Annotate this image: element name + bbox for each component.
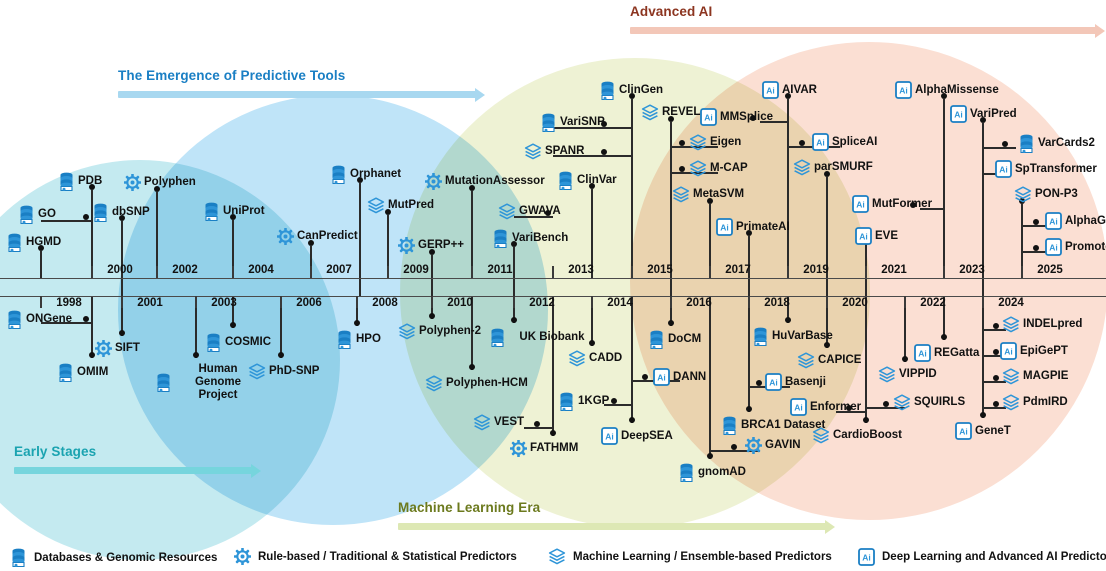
timeline-node[interactable]: SPANR [524, 143, 584, 160]
axis-tick [904, 296, 906, 308]
svg-text:Ai: Ai [794, 402, 803, 412]
axis-tick [387, 266, 389, 278]
axis-tick [40, 296, 42, 308]
database-icon [6, 233, 23, 252]
node-label: parSMURF [814, 161, 873, 174]
svg-text:Ai: Ai [720, 222, 729, 232]
node-label: COSMIC [225, 336, 271, 349]
connector-stem [40, 251, 42, 278]
axis-tick [631, 266, 633, 278]
year-label-2015: 2015 [647, 264, 673, 276]
layers-icon [473, 414, 491, 431]
timeline-node[interactable]: SQUIRLS [893, 394, 965, 411]
database-icon [92, 203, 109, 222]
connector-dot [756, 380, 762, 386]
node-label: ClinVar [577, 174, 617, 187]
legend-label: Deep Learning and Advanced AI Predictors [882, 551, 1106, 563]
era-title-advanced-ai: Advanced AI [630, 4, 712, 19]
node-label: OMIM [77, 366, 108, 379]
timeline-node[interactable]: INDELpred [1002, 316, 1082, 333]
connector-dot [83, 316, 89, 322]
year-label-2022: 2022 [920, 297, 946, 309]
timeline-node[interactable]: FATHMM [510, 440, 578, 457]
node-label: UniProt [223, 205, 265, 218]
ai-badge-icon: Ai [812, 133, 829, 151]
svg-text:Ai: Ai [1004, 346, 1013, 356]
database-icon [1018, 134, 1035, 153]
connector-stem [513, 247, 515, 296]
year-label-2008: 2008 [372, 297, 398, 309]
database-icon [6, 310, 23, 329]
timeline-node[interactable]: PdmIRD [1002, 394, 1068, 411]
node-label: VIPPID [899, 368, 937, 381]
connector-dot [679, 140, 685, 146]
year-label-2012: 2012 [529, 297, 555, 309]
timeline-node[interactable]: AiEVE [855, 227, 898, 245]
axis-tick [552, 266, 554, 278]
era-title-machine-learning-era: Machine Learning Era [398, 500, 540, 515]
ai-badge-icon: Ai [765, 373, 782, 391]
ai-badge-icon: Ai [653, 368, 670, 386]
database-icon [10, 548, 27, 567]
svg-text:Ai: Ai [954, 109, 963, 119]
node-label: Orphanet [350, 168, 401, 181]
svg-text:Ai: Ai [657, 372, 666, 382]
connector-dot [902, 356, 908, 362]
legend: Databases & Genomic ResourcesRule-based … [0, 546, 1106, 571]
node-label: DANN [673, 371, 706, 384]
timeline-node[interactable]: REVEL [641, 104, 700, 121]
ai-badge-icon: Ai [716, 218, 733, 236]
layers-icon [893, 394, 911, 411]
timeline-node[interactable]: OMIM [57, 363, 108, 382]
timeline-node[interactable]: AiAlphaMissense [895, 81, 999, 99]
database-icon [205, 333, 222, 352]
legend-item-ai-badge: AiDeep Learning and Advanced AI Predicto… [858, 548, 1106, 566]
connector-dot [354, 320, 360, 326]
timeline-node[interactable]: AiAlphaGe [1045, 212, 1106, 230]
timeline-node[interactable]: GERP++ [398, 237, 464, 254]
connector-dot [429, 313, 435, 319]
timeline-node[interactable]: AiDeepSEA [601, 427, 673, 445]
svg-text:Ai: Ai [918, 348, 927, 358]
year-label-2025: 2025 [1037, 264, 1063, 276]
node-label: SPANR [545, 145, 584, 158]
timeline-node[interactable]: UniProt [203, 202, 265, 221]
year-label-2001: 2001 [137, 297, 163, 309]
timeline-node[interactable]: PhD-SNP [248, 363, 319, 380]
svg-text:Ai: Ai [856, 199, 865, 209]
database-icon [58, 172, 75, 191]
timeline-node[interactable]: VEST [473, 414, 524, 431]
legend-label: Machine Learning / Ensemble-based Predic… [573, 551, 832, 563]
database-icon [540, 113, 557, 132]
connector-dot [511, 317, 517, 323]
ai-badge-icon: Ai [700, 108, 717, 126]
layers-icon [878, 366, 896, 383]
node-label: ONGene [26, 313, 72, 326]
axis-tick [591, 296, 593, 308]
ai-badge-icon: Ai [858, 548, 875, 566]
timeline-node[interactable]: HGMD [6, 233, 61, 252]
connector-dot [993, 401, 999, 407]
timeline-node[interactable]: VariSNP [540, 113, 605, 132]
axis-tick [91, 266, 93, 278]
era-arrow-advanced-ai [630, 27, 1096, 34]
database-icon [203, 202, 220, 221]
timeline-node[interactable]: AiDANN [653, 368, 706, 386]
timeline-node[interactable]: VIPPID [878, 366, 937, 383]
connector-stem [943, 99, 945, 278]
connector-dot [746, 406, 752, 412]
node-label: CAPICE [818, 354, 861, 367]
timeline-node[interactable]: Eigen [689, 134, 741, 151]
infographic-canvas: 2000200220042007200920112013201520172019… [0, 0, 1106, 571]
svg-text:Ai: Ai [859, 231, 868, 241]
ai-badge-icon: Ai [995, 160, 1012, 178]
svg-text:Ai: Ai [816, 137, 825, 147]
database-icon [557, 171, 574, 190]
node-label: REGatta [934, 347, 979, 360]
legend-item-gear: Rule-based / Traditional & Statistical P… [234, 548, 517, 565]
database-icon [492, 229, 509, 248]
timeline-node[interactable]: GO [18, 205, 56, 224]
year-label-2013: 2013 [568, 264, 594, 276]
node-label: MetaSVM [693, 188, 744, 201]
year-label-2019: 2019 [803, 264, 829, 276]
timeline-node[interactable]: AiMutFormer [852, 195, 932, 213]
axis-tick [787, 266, 789, 278]
year-label-2009: 2009 [403, 264, 429, 276]
database-icon [648, 330, 665, 349]
year-label-2020: 2020 [842, 297, 868, 309]
database-icon [155, 373, 172, 392]
connector-stem [552, 296, 554, 436]
node-label: VarCards2 [1038, 137, 1095, 150]
node-label: 1KGP [578, 395, 609, 408]
timeline-node[interactable]: PDB [58, 172, 102, 191]
timeline-node[interactable]: MAGPIE [1002, 368, 1068, 385]
node-label: VariSNP [560, 116, 605, 129]
database-icon [57, 363, 74, 382]
connector-dot [629, 417, 635, 423]
year-label-2014: 2014 [607, 297, 633, 309]
timeline-node[interactable]: M-CAP [689, 160, 748, 177]
year-label-2017: 2017 [725, 264, 751, 276]
node-label: AlphaGe [1065, 215, 1106, 228]
ai-badge-icon: Ai [895, 81, 912, 99]
node-label: SQUIRLS [914, 396, 965, 409]
node-label: INDELpred [1023, 318, 1082, 331]
database-icon [558, 392, 575, 411]
axis-tick [471, 266, 473, 278]
timeline-node[interactable]: MetaSVM [672, 186, 744, 203]
timeline-node[interactable]: AiPrimateAI [716, 218, 790, 236]
axis-tick [356, 296, 358, 308]
timeline-node[interactable]: MutationAssessor [425, 173, 545, 190]
layers-icon [672, 186, 690, 203]
year-label-2000: 2000 [107, 264, 133, 276]
connector-dot [993, 323, 999, 329]
connector-branch [983, 147, 1016, 149]
layers-icon [548, 548, 566, 565]
era-arrow-emergence-of-predictive-tools [118, 91, 476, 98]
ai-badge-icon: Ai [955, 422, 972, 440]
connector-dot [193, 352, 199, 358]
timeline-node[interactable]: VariBench [492, 229, 568, 248]
node-label: dbSNP [112, 206, 150, 219]
connector-branch [1022, 251, 1046, 253]
layers-icon [797, 352, 815, 369]
timeline-node[interactable]: MutPred [367, 197, 434, 214]
node-label: Polyphen [144, 176, 196, 189]
timeline-node[interactable]: CAPICE [797, 352, 861, 369]
axis-tick [195, 296, 197, 308]
connector-stem [865, 296, 867, 423]
layers-icon [1002, 394, 1020, 411]
axis-tick [156, 266, 158, 278]
node-label: PhD-SNP [269, 365, 319, 378]
node-label: GWAVA [519, 205, 561, 218]
timeline-node[interactable]: HuVarBase [752, 327, 833, 346]
node-label: VariBench [512, 232, 568, 245]
timeline-node[interactable]: parSMURF [793, 159, 873, 176]
timeline-node[interactable]: CADD [568, 350, 622, 367]
axis-tick [943, 266, 945, 278]
connector-stem [982, 296, 984, 418]
layers-icon [568, 350, 586, 367]
node-label: SpTransformer [1015, 163, 1097, 176]
node-label: MutPred [388, 199, 434, 212]
timeline-node[interactable]: AiREGatta [914, 344, 979, 362]
node-label: AlphaMissense [915, 84, 999, 97]
year-label-2018: 2018 [764, 297, 790, 309]
node-label: CADD [589, 352, 622, 365]
node-label: EpiGePT [1020, 345, 1068, 358]
node-label: gnomAD [698, 466, 746, 479]
connector-dot [668, 320, 674, 326]
svg-text:Ai: Ai [766, 85, 775, 95]
timeline-node[interactable]: CanPredict [277, 228, 358, 245]
connector-dot [83, 214, 89, 220]
layers-icon [398, 323, 416, 340]
layers-icon [689, 160, 707, 177]
axis-tick [865, 266, 867, 278]
year-label-2016: 2016 [686, 297, 712, 309]
year-label-2011: 2011 [488, 264, 513, 276]
database-icon [752, 327, 769, 346]
connector-dot [601, 149, 607, 155]
axis-tick [280, 296, 282, 308]
ai-badge-icon: Ai [762, 81, 779, 99]
connector-dot [863, 417, 869, 423]
connector-dot [469, 364, 475, 370]
axis-tick [121, 296, 123, 308]
node-label: Enformer [810, 401, 861, 414]
connector-dot [550, 430, 556, 436]
node-label: Promote [1065, 241, 1106, 254]
node-label: HuVarBase [772, 330, 833, 343]
layers-icon [1002, 368, 1020, 385]
node-label: CanPredict [297, 230, 358, 243]
timeline-node[interactable]: VarCards2 [1018, 134, 1095, 153]
gear-icon [745, 437, 762, 454]
svg-text:Ai: Ai [862, 552, 871, 562]
layers-icon [1014, 186, 1032, 203]
ai-badge-icon: Ai [950, 105, 967, 123]
connector-stem [471, 191, 473, 278]
timeline-node[interactable]: gnomAD [678, 463, 746, 482]
ai-badge-icon: Ai [852, 195, 869, 213]
node-label: SIFT [115, 342, 140, 355]
node-label: PrimateAI [736, 221, 790, 234]
gear-icon [95, 340, 112, 357]
timeline-node[interactable]: ClinGen [599, 81, 663, 100]
axis-tick [1021, 266, 1023, 278]
node-label: MAGPIE [1023, 370, 1068, 383]
database-icon [599, 81, 616, 100]
timeline-node[interactable]: GAVIN [745, 437, 801, 454]
connector-stem [431, 255, 433, 296]
timeline-node[interactable]: DoCM [648, 330, 701, 349]
timeline-node[interactable]: GWAVA [498, 203, 561, 220]
timeline-node[interactable]: AiEnformer [790, 398, 861, 416]
connector-stem [91, 296, 93, 358]
timeline-node[interactable]: Polyphen-2 [398, 323, 481, 340]
node-label: VEST [494, 416, 524, 429]
node-label: MMSplice [720, 111, 773, 124]
timeline-node[interactable]: BRCA1 Dataset [721, 416, 825, 435]
year-label-2023: 2023 [959, 264, 985, 276]
timeline-node[interactable]: AiVariPred [950, 105, 1017, 123]
legend-item-layers: Machine Learning / Ensemble-based Predic… [548, 548, 832, 565]
node-label: Polyphen-2 [419, 325, 481, 338]
connector-stem [748, 296, 750, 412]
year-label-2007: 2007 [326, 264, 352, 276]
node-label: M-CAP [710, 162, 748, 175]
timeline-node[interactable]: CardioBoost [812, 427, 902, 444]
timeline-node[interactable]: AiBasenji [765, 373, 826, 391]
layers-icon [812, 427, 830, 444]
timeline-node[interactable]: AiPromote [1045, 238, 1106, 256]
timeline-node[interactable]: SIFT [95, 340, 140, 357]
node-label: VariPred [970, 108, 1017, 121]
node-label: PDB [78, 175, 102, 188]
connector-stem [359, 183, 361, 296]
ai-badge-icon: Ai [601, 427, 618, 445]
year-label-2021: 2021 [881, 264, 907, 276]
node-label: SpliceAI [832, 136, 877, 149]
connector-stem [787, 99, 789, 278]
timeline-node[interactable]: AiEpiGePT [1000, 342, 1068, 360]
axis-tick [431, 296, 433, 308]
timeline-node[interactable]: Human Genome Project [155, 363, 261, 402]
timeline-node[interactable]: Orphanet [330, 165, 401, 184]
timeline-node[interactable]: AiSpliceAI [812, 133, 877, 151]
connector-dot [1033, 245, 1039, 251]
timeline-node[interactable]: UK Biobank [489, 328, 595, 347]
node-label: DeepSEA [621, 430, 673, 443]
timeline-node[interactable]: Polyphen [124, 174, 196, 191]
axis-tick [513, 296, 515, 308]
timeline-node[interactable]: ONGene [6, 310, 72, 329]
timeline-node[interactable]: 1KGP [558, 392, 609, 411]
connector-dot [278, 352, 284, 358]
year-label-2006: 2006 [296, 297, 322, 309]
ai-badge-icon: Ai [1045, 238, 1062, 256]
connector-stem [121, 221, 123, 296]
layers-icon [641, 104, 659, 121]
axis-tick [670, 296, 672, 308]
connector-dot [883, 401, 889, 407]
axis-tick [748, 296, 750, 308]
legend-label: Databases & Genomic Resources [34, 552, 217, 564]
ai-badge-icon: Ai [1000, 342, 1017, 360]
timeline-node[interactable]: COSMIC [205, 333, 271, 352]
year-label-2004: 2004 [248, 264, 274, 276]
era-arrow-early-stages [14, 467, 252, 474]
node-label: GO [38, 208, 56, 221]
node-label: GAVIN [765, 439, 801, 452]
ai-badge-icon: Ai [790, 398, 807, 416]
timeline-node[interactable]: AiAIVAR [762, 81, 817, 99]
node-label: Basenji [785, 376, 826, 389]
svg-text:Ai: Ai [999, 164, 1008, 174]
era-title-early-stages: Early Stages [14, 444, 96, 459]
legend-item-database: Databases & Genomic Resources [10, 548, 217, 567]
connector-dot [611, 398, 617, 404]
connector-dot [679, 166, 685, 172]
layers-icon [248, 363, 266, 380]
timeline-node[interactable]: Polyphen-HCM [425, 375, 528, 392]
gear-icon [124, 174, 141, 191]
ai-badge-icon: Ai [855, 227, 872, 245]
node-label: FATHMM [530, 442, 578, 455]
axis-tick [826, 296, 828, 308]
timeline-node[interactable]: HPO [336, 330, 381, 349]
timeline-node[interactable]: AiGeneT [955, 422, 1011, 440]
database-icon [18, 205, 35, 224]
connector-dot [230, 322, 236, 328]
axis-line-top [0, 278, 1106, 279]
svg-text:Ai: Ai [1049, 216, 1058, 226]
connector-dot [993, 349, 999, 355]
node-label: CardioBoost [833, 429, 902, 442]
timeline-node[interactable]: dbSNP [92, 203, 150, 222]
node-label: Eigen [710, 136, 741, 149]
connector-dot [1033, 219, 1039, 225]
year-label-2002: 2002 [172, 264, 198, 276]
year-label-2003: 2003 [211, 297, 237, 309]
connector-dot [731, 444, 737, 450]
layers-icon [524, 143, 542, 160]
svg-text:Ai: Ai [769, 377, 778, 387]
connector-dot [642, 374, 648, 380]
timeline-node[interactable]: PON-P3 [1014, 186, 1078, 203]
timeline-node[interactable]: AiSpTransformer [995, 160, 1097, 178]
node-label: Polyphen-HCM [446, 377, 528, 390]
database-icon [330, 165, 347, 184]
timeline-node[interactable]: AiMMSplice [700, 108, 773, 126]
database-icon [721, 416, 738, 435]
node-label: EVE [875, 230, 898, 243]
connector-dot [707, 453, 713, 459]
node-label: MutFormer [872, 198, 932, 211]
timeline-node[interactable]: ClinVar [557, 171, 617, 190]
connector-stem [631, 296, 633, 423]
legend-label: Rule-based / Traditional & Statistical P… [258, 551, 517, 563]
database-icon [489, 328, 506, 347]
